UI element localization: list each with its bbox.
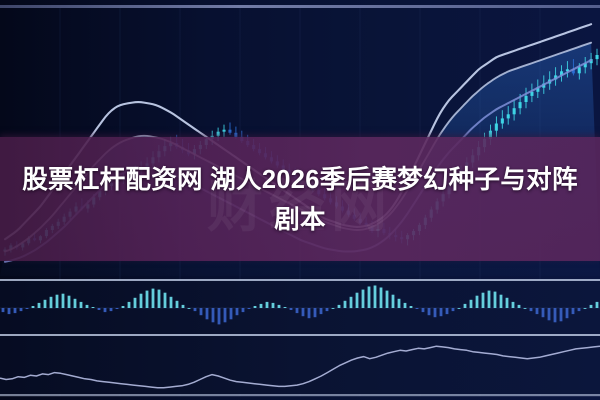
headline-text-block: 股票杠杆配资网 湖人2026季后赛梦幻种子与对阵 剧本 <box>0 160 600 240</box>
chart-banner-image: 财经网 股票杠杆配资网 湖人2026季后赛梦幻种子与对阵 剧本 <box>0 0 600 400</box>
headline-line-1: 股票杠杆配资网 湖人2026季后赛梦幻种子与对阵 <box>0 160 600 200</box>
headline-line-2: 剧本 <box>0 200 600 240</box>
